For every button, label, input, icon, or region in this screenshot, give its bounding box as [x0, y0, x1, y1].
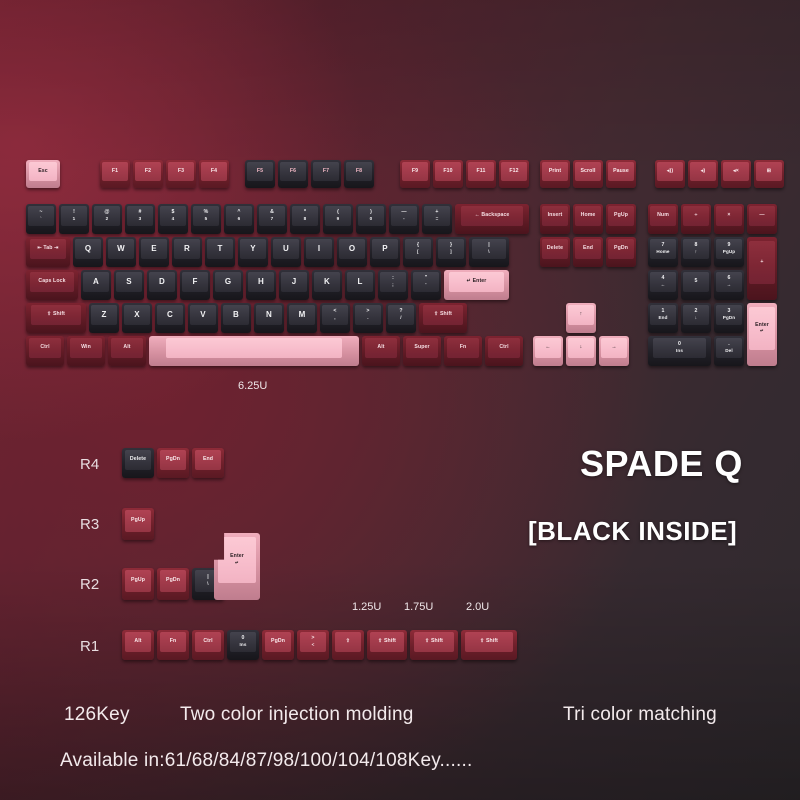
keycap-f6[interactable]: F6 — [278, 160, 308, 188]
keycap-surface: F7 — [313, 162, 338, 181]
keycap-num[interactable]: Num — [648, 204, 678, 234]
keycap-b[interactable]: B — [221, 303, 251, 333]
keycap-legend-secondary: 2 — [106, 217, 109, 222]
keycap-legend-primary: D — [159, 278, 165, 286]
keycap-legend-primary: G — [225, 278, 231, 286]
keycap-surface: Scroll — [575, 162, 600, 181]
keycap-key[interactable]: #3 — [125, 204, 155, 234]
product-showcase: EscF1F2F3F4F5F6F7F8F9F10F11F12PrintScrol… — [0, 0, 800, 800]
keycap-legend-primary: ↑ — [580, 312, 583, 317]
keycap-legend-primary: Alt — [134, 639, 141, 644]
keycap-surface: ~` — [28, 206, 53, 226]
keycap-surface: → — [601, 338, 626, 358]
keycap-surface: ⇧ Shift — [414, 632, 454, 652]
keycap-key[interactable]: &7 — [257, 204, 287, 234]
keycap-pgup[interactable]: PgUp — [606, 204, 636, 234]
keycap-legend-secondary: Ins — [676, 349, 683, 354]
keycap-4[interactable]: 4← — [648, 270, 678, 300]
keycap-blank[interactable] — [149, 336, 359, 366]
keycap-q[interactable]: Q — [73, 237, 103, 267]
keycap-legend-secondary: 3 — [139, 217, 142, 222]
keycap-key[interactable]: ?/ — [386, 303, 416, 333]
keycap-key[interactable]: ↑ — [566, 303, 596, 333]
keycap-surface: F12 — [501, 162, 526, 181]
keycap-enter[interactable]: ↵ Enter — [444, 270, 509, 300]
keycap-z[interactable]: Z — [89, 303, 119, 333]
keycap-surface: Fn — [447, 338, 479, 358]
keycap-enter[interactable]: Enter↵ — [747, 303, 777, 366]
keycap-legend-secondary: ↓ — [695, 316, 697, 321]
keycap-legend-primary: Ctrl — [40, 345, 49, 350]
keycap-surface: ← Backspace — [461, 206, 523, 226]
keycap-key[interactable]: }] — [436, 237, 466, 267]
keycap-legend-primary: Ctrl — [499, 345, 508, 350]
keycap-l[interactable]: L — [345, 270, 375, 300]
keycap-surface: Alt — [125, 632, 152, 652]
keycap-legend-primary: 0 — [678, 342, 681, 347]
keycap-surface: V — [190, 305, 215, 325]
keycap-legend-primary: ⇧ Shift — [378, 639, 396, 644]
keycap-win[interactable]: Win — [67, 336, 105, 366]
keycap-key[interactable]: ◂) — [688, 160, 718, 188]
keycap-f5[interactable]: F5 — [245, 160, 275, 188]
keycap-surface: W — [108, 239, 133, 259]
keycap-legend-primary: ◂) — [701, 169, 706, 174]
keycap-7[interactable]: 7Home — [648, 237, 678, 267]
keycap-d[interactable]: D — [147, 270, 177, 300]
keycap-legend-primary: L — [358, 278, 363, 286]
keycap-legend-primary: PgDn — [271, 639, 285, 644]
keycap-print[interactable]: Print — [540, 160, 570, 188]
keycap-f12[interactable]: F12 — [499, 160, 529, 188]
keycap-key[interactable]: += — [422, 204, 452, 234]
keycap-f9[interactable]: F9 — [400, 160, 430, 188]
keycap-key[interactable]: )0 — [356, 204, 386, 234]
keycap-u[interactable]: U — [271, 237, 301, 267]
keycap-f[interactable]: F — [180, 270, 210, 300]
keycap-key[interactable]: @2 — [92, 204, 122, 234]
keycap-surface: ◂× — [723, 162, 748, 181]
keycap-legend-secondary: 7 — [271, 217, 274, 222]
keycap-a[interactable]: A — [81, 270, 111, 300]
keycap-surface: ◂) — [690, 162, 715, 181]
keycap-surface: F1 — [102, 162, 127, 181]
keycap-key[interactable]: !1 — [59, 204, 89, 234]
keycap-key[interactable]: >< — [297, 630, 329, 660]
keycap-8[interactable]: 8↑ — [681, 237, 711, 267]
keycap-key[interactable]: ◂)) — [655, 160, 685, 188]
keycap-surface: Delete — [125, 450, 152, 470]
keycap-pause[interactable]: Pause — [606, 160, 636, 188]
keycap-surface: 0Ins — [653, 338, 706, 358]
keycap-alt[interactable]: Alt — [108, 336, 146, 366]
keycap-legend-primary: ⇤ Tab ⇥ — [37, 246, 58, 251]
caption-matching: Tri color matching — [563, 704, 717, 726]
keycap-legend-secondary: End — [659, 316, 668, 321]
keycap-legend-secondary: 5 — [205, 217, 208, 222]
keycap-key[interactable]: >. — [353, 303, 383, 333]
keycap-surface: T — [207, 239, 232, 259]
keycap-legend-secondary: PgUp — [723, 250, 735, 255]
keycap-surface: End — [195, 450, 222, 470]
keycap-legend-primary: K — [324, 278, 330, 286]
keycap-legend-primary: @ — [104, 210, 109, 215]
keycap-key[interactable]: ⇧ — [332, 630, 364, 660]
keycap-s[interactable]: S — [114, 270, 144, 300]
keycap-key[interactable]: .Del — [714, 336, 744, 366]
keycap-caps-lock[interactable]: Caps Lock — [26, 270, 78, 300]
keycap-alt[interactable]: Alt — [362, 336, 400, 366]
keycap-end[interactable]: End — [192, 448, 224, 478]
keycap-legend-primary: O — [349, 245, 355, 253]
keycap-surface: PgDn — [265, 632, 292, 652]
keycap-surface: :; — [380, 272, 405, 292]
keycap-y[interactable]: Y — [238, 237, 268, 267]
keycap-pgdn[interactable]: PgDn — [157, 568, 189, 600]
keycap-legend-secondary: Ins — [240, 643, 247, 648]
keycap-2[interactable]: 2↓ — [681, 303, 711, 333]
keycap-surface: .Del — [716, 338, 741, 358]
keycap-fn[interactable]: Fn — [444, 336, 482, 366]
keycap-k[interactable]: K — [312, 270, 342, 300]
keycap-surface: ◂)) — [657, 162, 682, 181]
row-label-r4: R4 — [80, 456, 99, 473]
keycap-surface: Enter↵ — [749, 307, 774, 350]
keycap-j[interactable]: J — [279, 270, 309, 300]
keycap-legend-primary: < — [333, 309, 336, 314]
keycap-surface: L — [347, 272, 372, 292]
keycap-m[interactable]: M — [287, 303, 317, 333]
keycap-delete[interactable]: Delete — [540, 237, 570, 267]
keycap-surface: F5 — [247, 162, 272, 181]
keycap-surface: (9 — [325, 206, 350, 226]
keycap-legend-primary: Enter — [755, 323, 769, 328]
keycap-surface: E — [141, 239, 166, 259]
keycap-f4[interactable]: F4 — [199, 160, 229, 188]
keycap-surface: S — [116, 272, 141, 292]
keycap-f8[interactable]: F8 — [344, 160, 374, 188]
keycap-shift[interactable]: ⇧ Shift — [461, 630, 517, 660]
keycap-surface: —- — [391, 206, 416, 226]
keycap-surface: $4 — [160, 206, 185, 226]
keycap-enter[interactable]: Enter↵ — [214, 533, 260, 600]
keycap-surface: PgUp — [608, 206, 633, 226]
keycap-ctrl[interactable]: Ctrl — [26, 336, 64, 366]
keycap-surface: U — [273, 239, 298, 259]
keycap-legend-primary: 9 — [728, 243, 731, 248]
keycap-legend-primary: | — [488, 243, 490, 248]
keycap-legend-secondary: ] — [450, 250, 452, 255]
keycap-legend-primary: F7 — [323, 169, 329, 174]
keycap-ctrl[interactable]: Ctrl — [192, 630, 224, 660]
keycap-w[interactable]: W — [106, 237, 136, 267]
keycap-key[interactable]: ← — [533, 336, 563, 366]
keycap-legend-primary: → — [611, 345, 616, 350]
keycap-0[interactable]: 0Ins — [227, 630, 259, 660]
keycap-surface: × — [716, 206, 741, 226]
keycap-surface — [166, 338, 342, 358]
keycap-key[interactable]: <, — [320, 303, 350, 333]
keycap-fn[interactable]: Fn — [157, 630, 189, 660]
keycap-surface: G — [215, 272, 240, 292]
keycap-6[interactable]: 6→ — [714, 270, 744, 300]
keycap-legend-primary: + — [435, 210, 438, 215]
keycap-key[interactable]: %5 — [191, 204, 221, 234]
keycap-key[interactable]: ⊞ — [754, 160, 784, 188]
keycap-legend-primary: ( — [337, 210, 339, 215]
keycap-pgdn[interactable]: PgDn — [606, 237, 636, 267]
keycap-surface: ⇧ — [335, 632, 362, 652]
keycap-x[interactable]: X — [122, 303, 152, 333]
keycap-e[interactable]: E — [139, 237, 169, 267]
keycap-tab[interactable]: ⇤ Tab ⇥ — [26, 237, 70, 267]
keycap-legend-primary: PgDn — [614, 246, 628, 251]
keycap-surface: 9PgUp — [716, 239, 741, 259]
keycap-o[interactable]: O — [337, 237, 367, 267]
keycap-f3[interactable]: F3 — [166, 160, 196, 188]
keycap-surface: 2↓ — [683, 305, 708, 325]
keycap-scroll[interactable]: Scroll — [573, 160, 603, 188]
keycap-shift[interactable]: ⇧ Shift — [26, 303, 86, 333]
keycap-key[interactable]: *8 — [290, 204, 320, 234]
keycap-surface: PgUp — [125, 570, 152, 592]
keycap-legend-primary: + — [760, 260, 763, 265]
keycap-legend-primary: M — [299, 311, 306, 319]
keycap-surface: <, — [322, 305, 347, 325]
keycap-legend-primary: F5 — [257, 169, 263, 174]
keycap-legend-primary: Alt — [123, 345, 130, 350]
keycap-legend-secondary: PgDn — [723, 316, 735, 321]
keycap-key[interactable]: {[ — [403, 237, 433, 267]
keycap-legend-primary: ↓ — [580, 345, 583, 350]
keycap-legend-primary: ? — [399, 309, 402, 314]
keycap-legend-primary: ⇧ Shift — [480, 639, 498, 644]
keycap-key[interactable]: (9 — [323, 204, 353, 234]
keycap-legend-primary: F2 — [145, 169, 151, 174]
keycap-surface: Ctrl — [488, 338, 520, 358]
keycap-legend-primary: Print — [549, 169, 561, 174]
keycap-surface: F11 — [468, 162, 493, 181]
keycap-surface: Insert — [542, 206, 567, 226]
keycap-legend-secondary: 1 — [73, 217, 76, 222]
keycap-surface: 3PgDn — [716, 305, 741, 325]
keycap-surface: PgDn — [160, 570, 187, 592]
keycap-pgup[interactable]: PgUp — [122, 568, 154, 600]
keycap-surface: PgDn — [608, 239, 633, 259]
keycap-legend-primary: * — [304, 210, 306, 215]
keycap-legend-primary: X — [134, 311, 139, 319]
keycap-p[interactable]: P — [370, 237, 400, 267]
keycap-super[interactable]: Super — [403, 336, 441, 366]
keycap-key[interactable]: ◂× — [721, 160, 751, 188]
keycap-surface: ^6 — [226, 206, 251, 226]
keycap-surface: ?/ — [388, 305, 413, 325]
keycap-f11[interactable]: F11 — [466, 160, 496, 188]
keycap-surface: End — [575, 239, 600, 259]
keycap-0[interactable]: 0Ins — [648, 336, 711, 366]
keycap-surface: 5 — [683, 272, 708, 292]
keycap-legend-primary: J — [292, 278, 297, 286]
keycap-key[interactable]: — — [747, 204, 777, 234]
keycap-key[interactable]: |\ — [469, 237, 509, 267]
keycap-key[interactable]: $4 — [158, 204, 188, 234]
keycap-key[interactable]: ÷ — [681, 204, 711, 234]
keycap-key[interactable]: ↓ — [566, 336, 596, 366]
keycap-legend-primary: Scroll — [580, 169, 595, 174]
keycap-insert[interactable]: Insert — [540, 204, 570, 234]
keycap-legend-primary: — — [759, 213, 764, 218]
keycap-alt[interactable]: Alt — [122, 630, 154, 660]
keycap-esc[interactable]: Esc — [26, 160, 60, 188]
keycap-shift[interactable]: ⇧ Shift — [367, 630, 407, 660]
keycap-legend-primary: I — [318, 245, 320, 253]
keycap-f1[interactable]: F1 — [100, 160, 130, 188]
keycap-home[interactable]: Home — [573, 204, 603, 234]
keycap-legend-primary: Y — [250, 245, 255, 253]
keycap-legend-primary: > — [311, 636, 314, 641]
keycap-legend-primary: PgUp — [131, 578, 145, 583]
keycap-key[interactable]: :; — [378, 270, 408, 300]
keycap-key[interactable]: ~` — [26, 204, 56, 234]
keycap-surface: Num — [650, 206, 675, 226]
keycap-surface: Alt — [365, 338, 397, 358]
keycap-surface: 7Home — [650, 239, 675, 259]
keycap-f7[interactable]: F7 — [311, 160, 341, 188]
keycap-shift[interactable]: ⇧ Shift — [410, 630, 458, 660]
keycap-legend-primary: Num — [657, 213, 669, 218]
keycap-legend-primary: Ctrl — [203, 639, 212, 644]
keycap-t[interactable]: T — [205, 237, 235, 267]
keycap-surface: Y — [240, 239, 265, 259]
keycap-surface: F6 — [280, 162, 305, 181]
keycap-pgdn[interactable]: PgDn — [262, 630, 294, 660]
keycap-surface: !1 — [61, 206, 86, 226]
keycap-surface: ÷ — [683, 206, 708, 226]
keycap-legend-secondary: 6 — [238, 217, 241, 222]
keycap-legend-secondary: = — [436, 217, 439, 222]
keycap-legend-secondary: ' — [425, 283, 426, 288]
keycap-h[interactable]: H — [246, 270, 276, 300]
keycap-key[interactable]: + — [747, 237, 777, 300]
keycap-legend-secondary: 0 — [370, 217, 373, 222]
keycap-surface: K — [314, 272, 339, 292]
keycap-key[interactable]: × — [714, 204, 744, 234]
keycap-key[interactable]: —- — [389, 204, 419, 234]
keycap-surface: 4← — [650, 272, 675, 292]
keycap-surface: *8 — [292, 206, 317, 226]
keycap-legend-primary: E — [151, 245, 156, 253]
product-variant: [BLACK INSIDE] — [528, 516, 737, 547]
row-label-r2: R2 — [80, 576, 99, 593]
keycap-legend-primary: Q — [85, 245, 91, 253]
size-label-space: 6.25U — [238, 380, 267, 392]
keycap-surface: &7 — [259, 206, 284, 226]
keycap-surface: Q — [75, 239, 100, 259]
keycap-legend-primary: Z — [102, 311, 107, 319]
keycap-legend-secondary: ← — [661, 283, 666, 288]
keycap-pgup[interactable]: PgUp — [122, 508, 154, 540]
keycap-legend-primary: End — [203, 457, 213, 462]
size-label-2-0u: 2.0U — [466, 601, 489, 613]
keycap-surface: 0Ins — [230, 632, 257, 652]
keycap-surface: F2 — [135, 162, 160, 181]
keycap-legend-primary: Delete — [547, 246, 563, 251]
keycap-surface: F3 — [168, 162, 193, 181]
keycap-legend-primary: ← — [545, 345, 550, 350]
keycap-legend-primary: ⊞ — [767, 169, 771, 174]
keycap-delete[interactable]: Delete — [122, 448, 154, 478]
keycap-legend-primary: End — [583, 246, 593, 251]
keycap-legend-primary: 0 — [242, 636, 245, 641]
keycap-legend-secondary: . — [367, 316, 368, 321]
keycap-5[interactable]: 5 — [681, 270, 711, 300]
keycap-key[interactable]: ^6 — [224, 204, 254, 234]
keycap-g[interactable]: G — [213, 270, 243, 300]
keycap-legend-primary: $ — [172, 210, 175, 215]
keycap-n[interactable]: N — [254, 303, 284, 333]
keycap-shift[interactable]: ⇧ Shift — [419, 303, 467, 333]
keycap-surface: Print — [542, 162, 567, 181]
keycap-legend-primary: F — [193, 278, 198, 286]
keycap-legend-primary: ◂× — [733, 169, 739, 174]
keycap-legend-primary: ⇧ — [346, 639, 350, 644]
keycap-legend-primary: Fn — [170, 639, 177, 644]
keycap-surface: ⊞ — [756, 162, 781, 181]
keycap-c[interactable]: C — [155, 303, 185, 333]
keycap-legend-primary: F1 — [112, 169, 118, 174]
keycap-backspace[interactable]: ← Backspace — [455, 204, 529, 234]
keycap-surface: R — [174, 239, 199, 259]
keycap-f10[interactable]: F10 — [433, 160, 463, 188]
keycap-surface: PgDn — [160, 450, 187, 470]
keycap-legend-primary: ← Backspace — [475, 213, 510, 218]
keycap-pgdn[interactable]: PgDn — [157, 448, 189, 478]
keycap-surface: ↑ — [568, 305, 593, 325]
keycap-legend-secondary: [ — [417, 250, 419, 255]
keycap-legend-secondary: ↵ — [235, 561, 239, 566]
keycap-legend-primary: — — [401, 210, 406, 215]
product-title: SPADE Q — [580, 443, 743, 485]
keycap-r[interactable]: R — [172, 237, 202, 267]
keycap-key[interactable]: → — [599, 336, 629, 366]
keycap-legend-primary: T — [218, 245, 223, 253]
keycap-surface: F8 — [346, 162, 371, 181]
keycap-legend-primary: : — [392, 276, 394, 281]
keycap-key[interactable]: "' — [411, 270, 441, 300]
keycap-surface: H — [248, 272, 273, 292]
keycap-1[interactable]: 1End — [648, 303, 678, 333]
keycap-9[interactable]: 9PgUp — [714, 237, 744, 267]
keycap-surface: Z — [91, 305, 116, 325]
keycap-ctrl[interactable]: Ctrl — [485, 336, 523, 366]
caption-molding: Two color injection molding — [180, 704, 414, 726]
keycap-surface: F10 — [435, 162, 460, 181]
keycap-legend-primary: A — [93, 278, 99, 286]
keycap-surface: 6→ — [716, 272, 741, 292]
keycap-legend-primary: Alt — [377, 345, 384, 350]
keycap-legend-primary: F4 — [211, 169, 217, 174]
keycap-surface: ⇧ Shift — [31, 305, 81, 325]
keycap-surface: F9 — [402, 162, 427, 181]
keycap-f2[interactable]: F2 — [133, 160, 163, 188]
keycap-end[interactable]: End — [573, 237, 603, 267]
keycap-legend-secondary: - — [403, 217, 405, 222]
keycap-i[interactable]: I — [304, 237, 334, 267]
keycap-surface: F — [182, 272, 207, 292]
keycap-3[interactable]: 3PgDn — [714, 303, 744, 333]
keycap-v[interactable]: V — [188, 303, 218, 333]
keycap-surface: Home — [575, 206, 600, 226]
